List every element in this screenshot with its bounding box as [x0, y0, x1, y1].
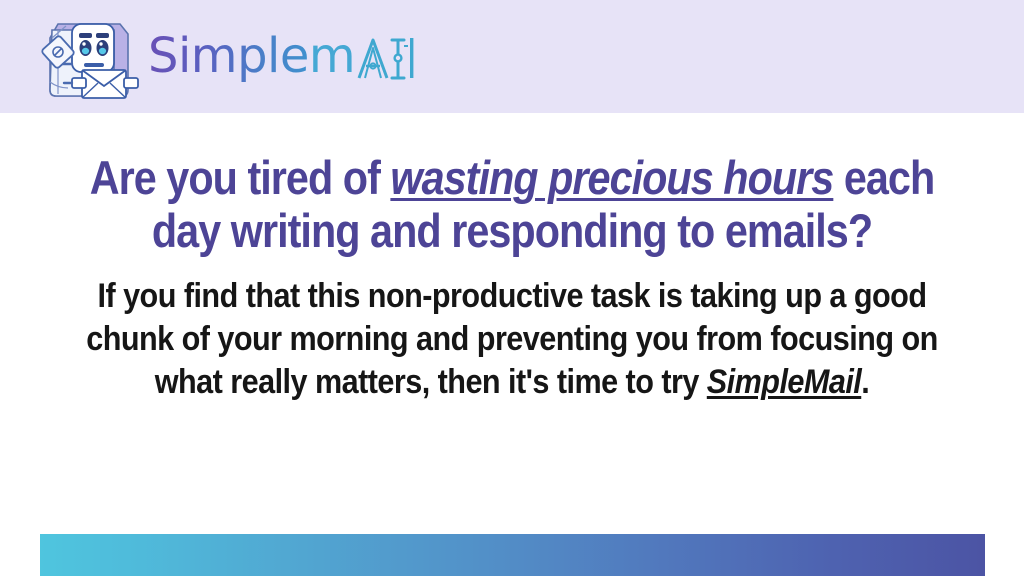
wordmark-m-text: m	[309, 8, 355, 104]
brand-lockup[interactable]: Simple m	[28, 8, 416, 104]
page-headline: Are you tired of wasting precious hours …	[61, 113, 962, 257]
gradient-divider-bar	[40, 534, 985, 576]
brand-wordmark: Simple m	[148, 8, 416, 104]
headline-lead-text: Are you tired of	[90, 151, 391, 204]
robot-mailbag-logo-icon	[28, 8, 140, 104]
wordmark-simple-text: Simple	[148, 8, 309, 104]
header-band: Simple m	[0, 0, 1024, 113]
headline-emphasis-text: wasting precious hours	[390, 151, 833, 204]
main-content: Are you tired of wasting precious hours …	[0, 113, 1024, 533]
body-brand-emphasis-text: SimpleMail	[707, 363, 861, 401]
body-tail-text: .	[861, 363, 869, 401]
wordmark-ai-circuit-icon	[356, 32, 416, 82]
page-body-copy: If you find that this non-productive tas…	[51, 257, 973, 404]
